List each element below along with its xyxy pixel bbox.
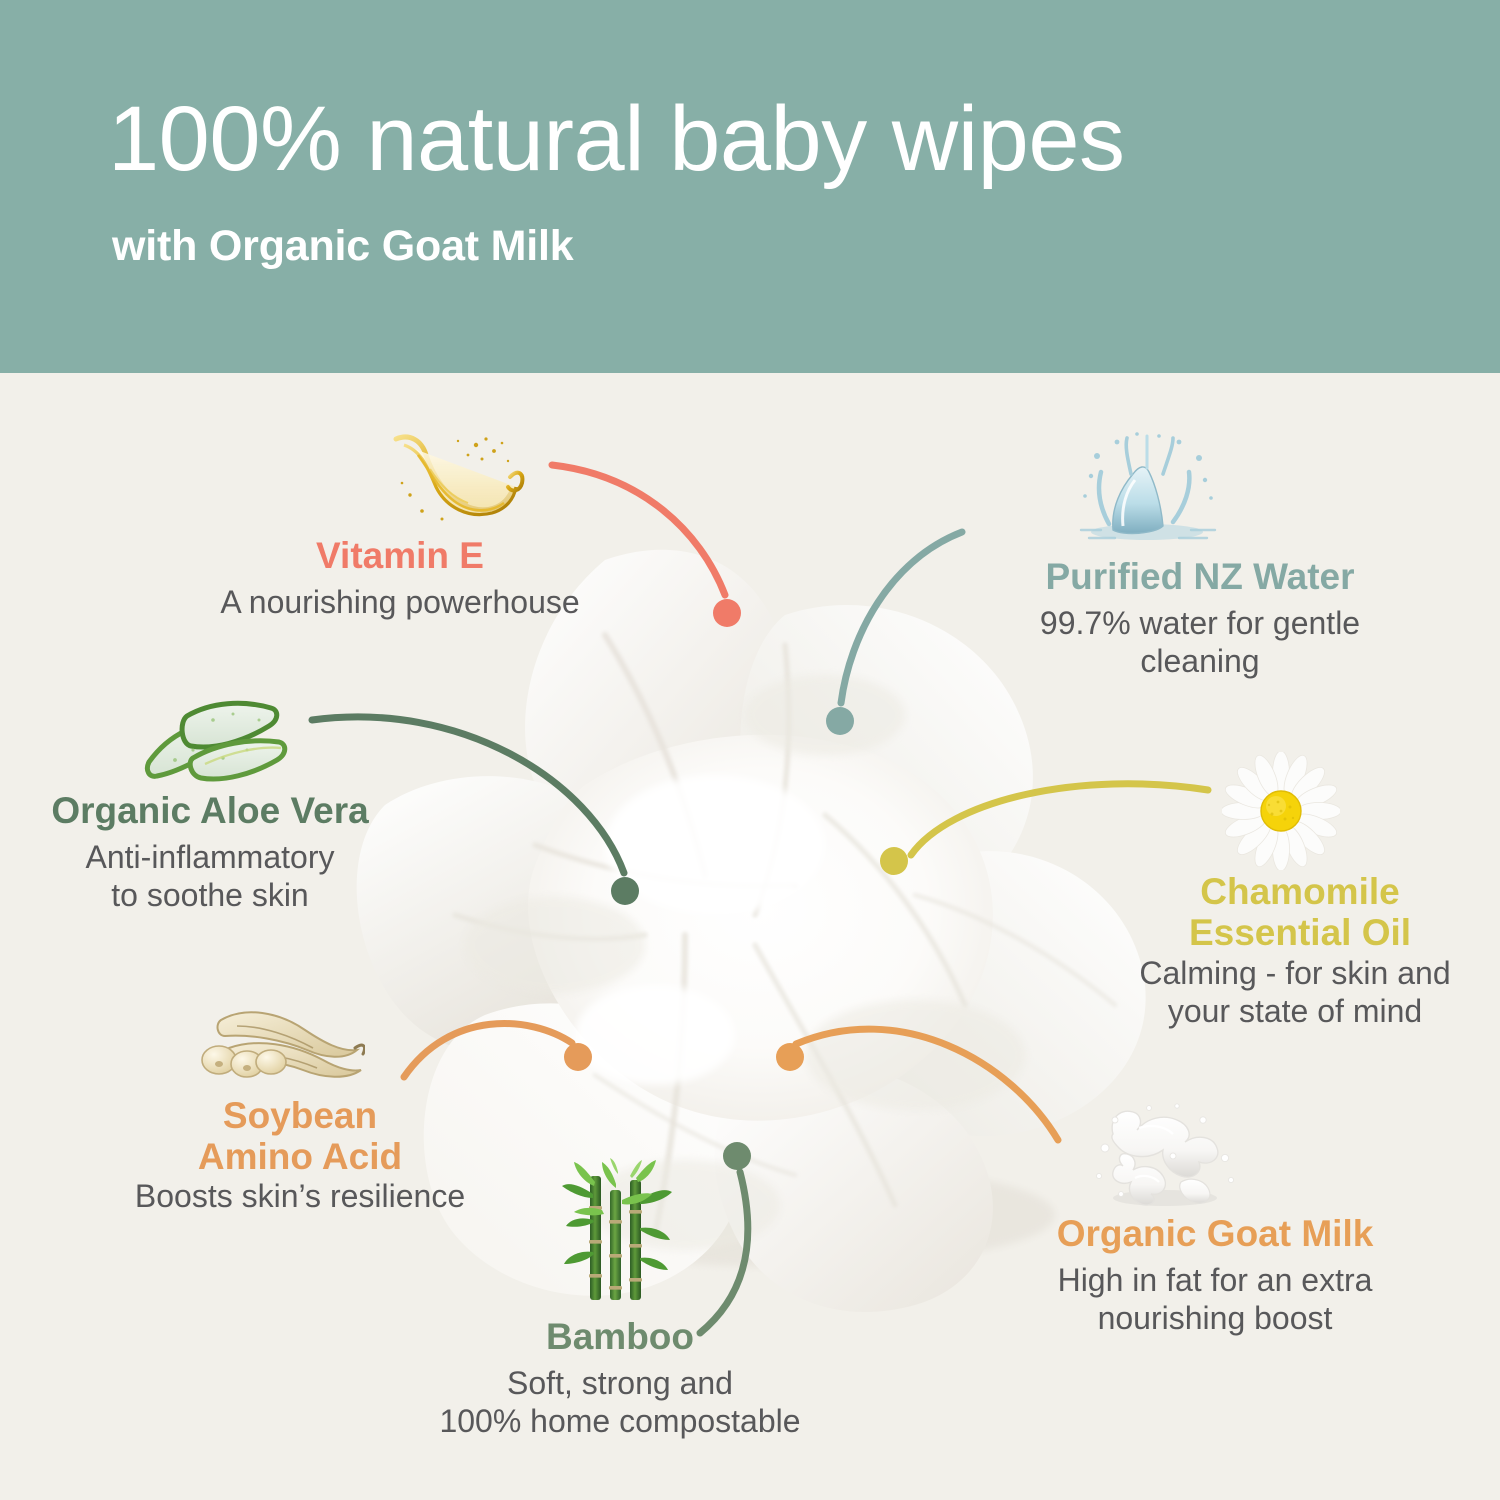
page-title: 100% natural baby wipes [108,92,1125,188]
ingredient-desc-soybean-amino-acid: Boosts skin’s resilience [40,1178,560,1216]
bamboo-stalks-icon [560,1158,680,1308]
ingredient-desc-chamomile-essential-oil: Calming - for skin and your state of min… [1090,955,1500,1031]
ingredient-desc-purified-nz-water: 99.7% water for gentle cleaning [900,605,1500,681]
ingredient-desc-vitamin-e: A nourishing powerhouse [0,584,800,622]
ingredient-desc-bamboo: Soft, strong and 100% home compostable [330,1365,910,1441]
ingredient-title-organic-aloe-vera: Organic Aloe Vera [0,790,420,831]
ingredient-title-purified-nz-water: Purified NZ Water [900,556,1500,597]
ingredient-desc-organic-goat-milk: High in fat for an extra nourishing boos… [930,1262,1500,1338]
ingredient-title-vitamin-e: Vitamin E [0,535,800,576]
header-banner: 100% natural baby wipes with Organic Goa… [0,0,1500,373]
ingredient-title-soybean-amino-acid: Soybean Amino Acid [60,1095,540,1178]
aloe-vera-icon [135,690,310,795]
page-subtitle: with Organic Goat Milk [112,222,573,271]
ingredient-desc-organic-aloe-vera: Anti-inflammatory to soothe skin [0,839,420,915]
chamomile-flower-icon [1222,752,1340,870]
ingredient-title-chamomile-essential-oil: Chamomile Essential Oil [1100,871,1500,954]
ingredient-title-organic-goat-milk: Organic Goat Milk [930,1213,1500,1254]
soybean-pod-icon [195,1002,365,1092]
oil-splash-icon [382,425,527,535]
ingredient-title-bamboo: Bamboo [400,1316,840,1357]
milk-splash-icon [1085,1098,1245,1213]
ingredient-infographic: 100% natural baby wipes with Organic Goa… [0,0,1500,1500]
water-splash-icon [1075,430,1220,550]
